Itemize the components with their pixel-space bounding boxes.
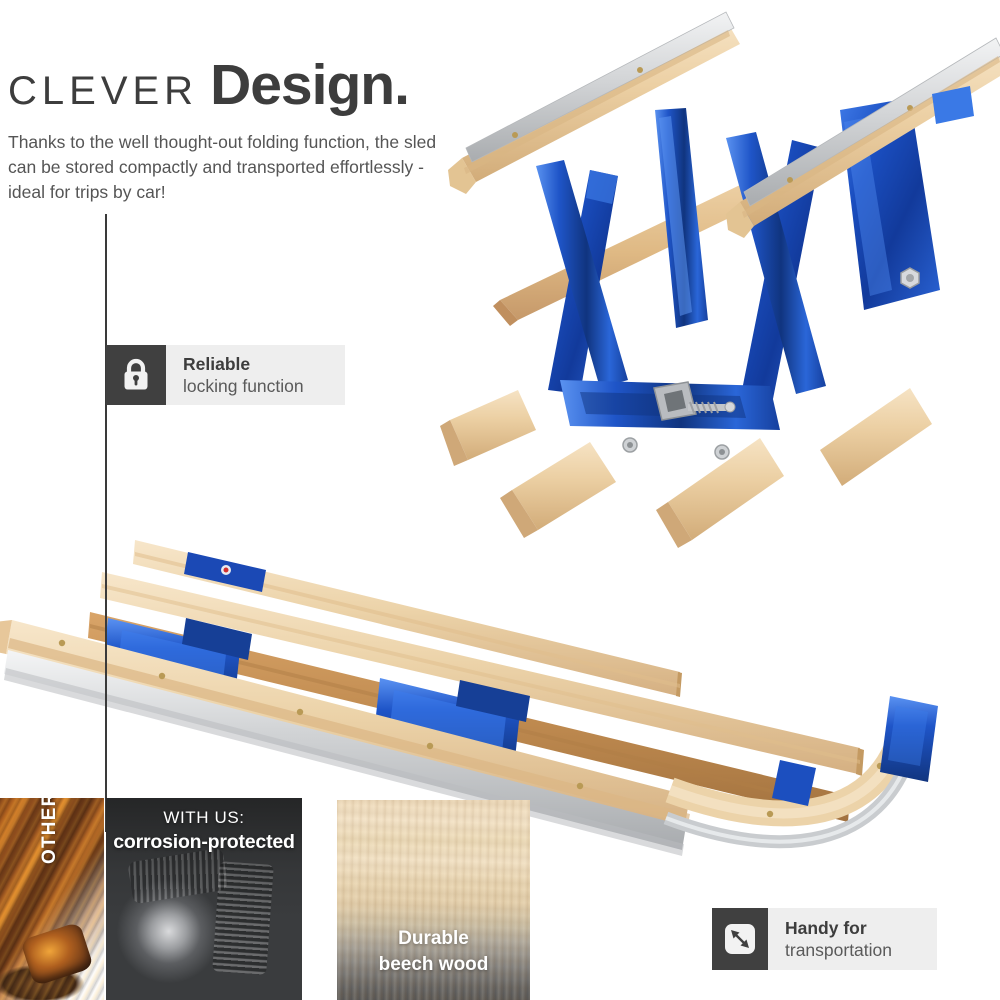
badge-text-block: Handy for transportation [768,908,912,970]
page-subtitle: Thanks to the well thought-out folding f… [8,130,458,205]
beech-caption-line2: beech wood [337,952,530,978]
badge-subtitle: locking function [183,375,304,397]
folded-sled-photo [440,0,1000,550]
feature-badge-reliable-locking[interactable]: Reliable locking function [106,345,345,405]
resize-diagonal-arrow-icon [712,908,768,970]
with-us-label: WITH US: [106,808,302,828]
beech-caption: Durable beech wood [337,926,530,978]
infographic-page: CLEVERDesign. Thanks to the well thought… [0,0,1000,1000]
others-label: OTHERS [39,798,61,864]
page-title-bold: Design. [210,53,409,117]
badge-title: Handy for [785,918,892,939]
page-title-light: CLEVER [8,69,198,113]
comparison-panel-others: OTHERS [0,798,104,1000]
page-title: CLEVERDesign. [8,52,409,118]
lock-icon [106,345,166,405]
comparison-panel-with-us: WITH US: corrosion-protected [106,798,302,1000]
feature-badge-handy-transportation[interactable]: Handy for transportation [712,908,937,970]
badge-text-block: Reliable locking function [166,345,324,405]
badge-title: Reliable [183,354,304,375]
badge-subtitle: transportation [785,939,892,961]
material-panel-beech-wood: Durable beech wood [337,800,530,1000]
corrosion-protected-label: corrosion-protected [106,831,302,854]
with-us-caption: WITH US: corrosion-protected [106,808,302,854]
beech-caption-line1: Durable [337,926,530,952]
connector-line [105,214,107,832]
